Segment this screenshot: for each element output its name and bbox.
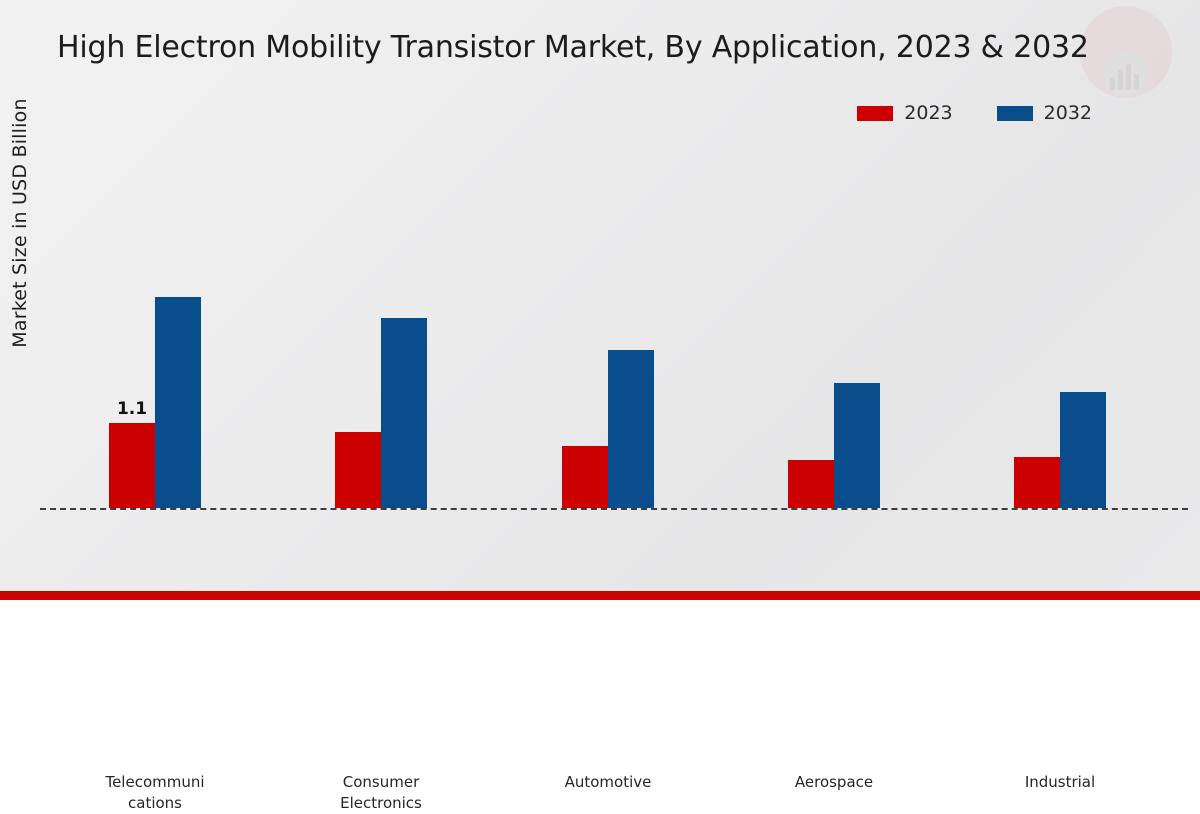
page-title: High Electron Mobility Transistor Market… xyxy=(57,30,1089,65)
legend-item-2023[interactable]: 2023 xyxy=(857,102,952,124)
category-label-line-2: cations xyxy=(50,793,260,814)
category-label-telecommunications: Telecommuni cations xyxy=(50,772,260,814)
category-label-industrial: Industrial xyxy=(955,772,1165,793)
category-label-line-1: Industrial xyxy=(955,772,1165,793)
watermark-circle-icon xyxy=(1080,6,1172,98)
bars-industrial xyxy=(955,248,1165,508)
x-axis-baseline xyxy=(40,508,1188,510)
category-label-automotive: Automotive xyxy=(503,772,713,793)
bars-aerospace xyxy=(729,248,939,508)
category-label-consumer-electronics: Consumer Electronics xyxy=(276,772,486,814)
bar-value-label: 1.1 xyxy=(117,399,147,419)
plot-area: Market Size in USD Billion 1.1 Telecommu… xyxy=(0,0,1200,600)
bars-automotive xyxy=(503,248,713,508)
legend-label-2032: 2032 xyxy=(1044,102,1092,124)
category-label-line-1: Telecommuni xyxy=(50,772,260,793)
category-label-line-1: Automotive xyxy=(503,772,713,793)
bar-2023-consumer-electronics[interactable] xyxy=(335,432,381,508)
legend-swatch-2032 xyxy=(997,106,1033,121)
watermark-inner-circle-icon xyxy=(1104,52,1148,96)
legend-item-2032[interactable]: 2032 xyxy=(997,102,1092,124)
legend-swatch-2023 xyxy=(857,106,893,121)
bars-telecommunications: 1.1 xyxy=(50,248,260,508)
y-axis-label: Market Size in USD Billion xyxy=(9,43,31,403)
category-label-aerospace: Aerospace xyxy=(729,772,939,793)
category-label-line-1: Aerospace xyxy=(729,772,939,793)
bar-2023-automotive[interactable] xyxy=(562,446,608,508)
bar-2032-industrial[interactable] xyxy=(1060,392,1106,508)
category-label-line-1: Consumer xyxy=(276,772,486,793)
chart-legend: 2023 2032 xyxy=(857,102,1092,124)
bars-consumer-electronics xyxy=(276,248,486,508)
bar-groups: 1.1 Telecommuni cations Consumer Electro xyxy=(0,0,1200,600)
category-label-line-2: Electronics xyxy=(276,793,486,814)
watermark-bars-icon xyxy=(1110,64,1140,90)
bar-2023-aerospace[interactable] xyxy=(788,460,834,508)
bar-2032-consumer-electronics[interactable] xyxy=(381,318,427,508)
bar-2032-aerospace[interactable] xyxy=(834,383,880,508)
footer-accent-bar xyxy=(0,591,1200,600)
legend-label-2023: 2023 xyxy=(904,102,952,124)
bar-2032-automotive[interactable] xyxy=(608,350,654,508)
chart-page: High Electron Mobility Transistor Market… xyxy=(0,0,1200,600)
bar-2032-telecommunications[interactable] xyxy=(155,297,201,508)
bar-2023-telecommunications[interactable]: 1.1 xyxy=(109,423,155,508)
bar-2023-industrial[interactable] xyxy=(1014,457,1060,508)
